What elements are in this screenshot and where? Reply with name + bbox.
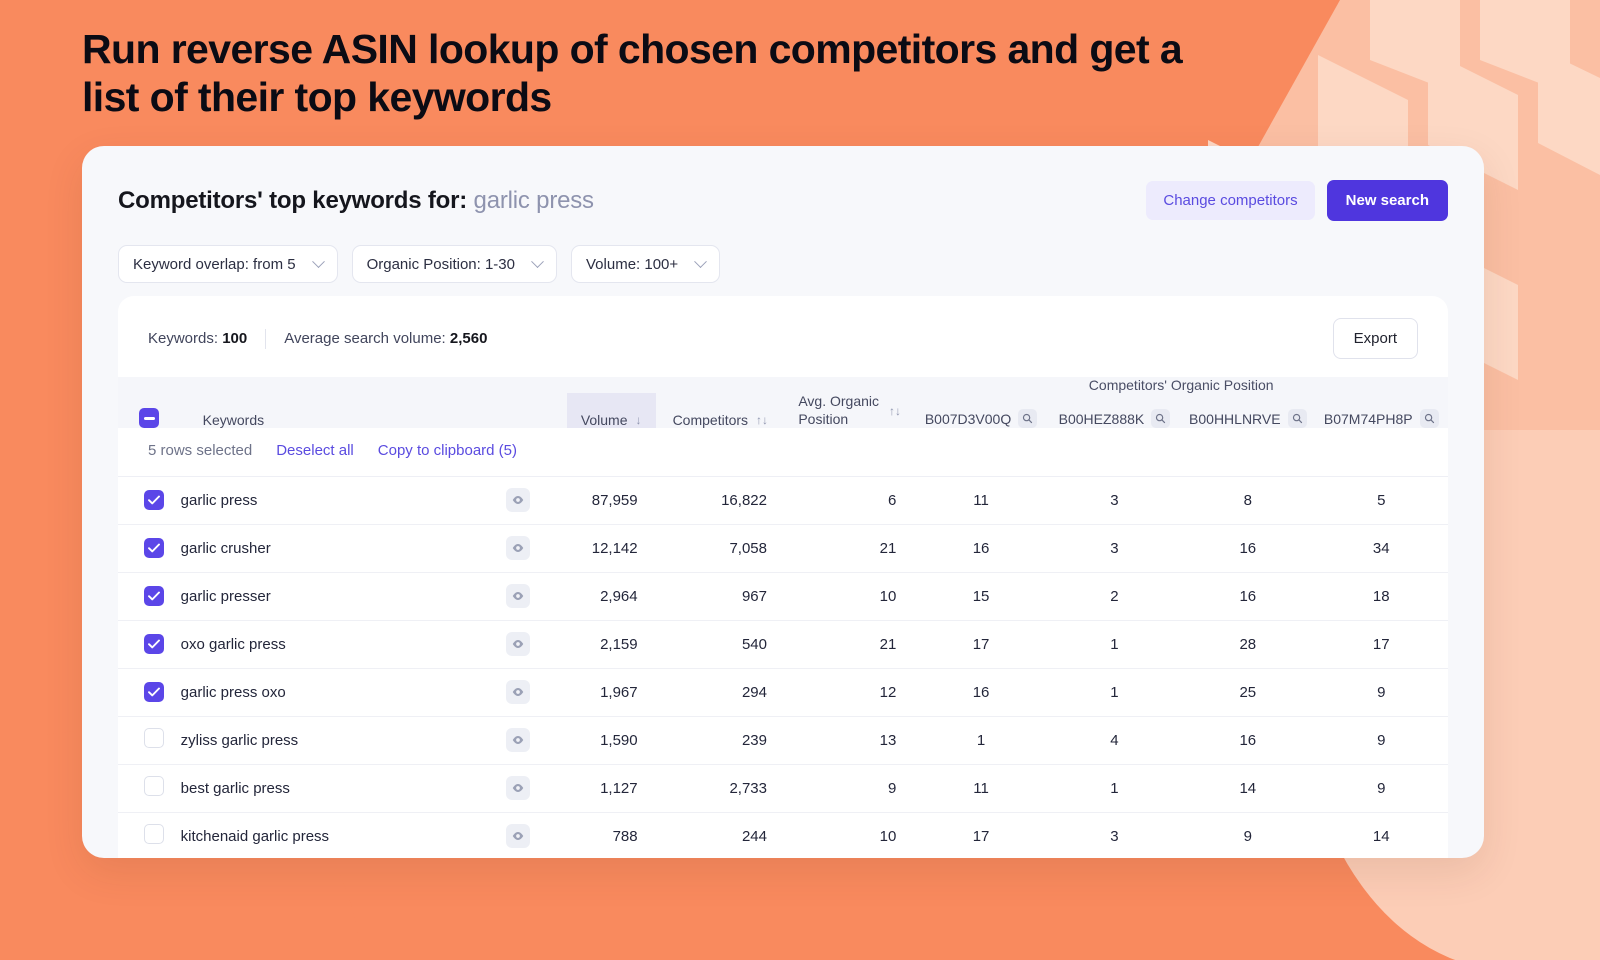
avg-organic-position-line1: Avg. Organic	[798, 393, 879, 409]
selection-bar-row: 5 rows selected Deselect all Copy to cli…	[118, 428, 1448, 476]
asin-position-cell-1: 4	[1048, 716, 1181, 764]
table-toolbar: Keywords: 100 Average search volume: 2,5…	[118, 296, 1448, 377]
competitors-column-label: Competitors	[673, 412, 748, 428]
search-icon[interactable]	[1288, 409, 1307, 428]
competitors-column-header[interactable]: Competitors ↑↓	[656, 393, 785, 428]
volume-cell: 1,590	[567, 716, 656, 764]
asin-position-cell-0: 17	[914, 620, 1047, 668]
table-row[interactable]: oxo garlic press2,159540211712817	[118, 620, 1448, 668]
asin-position-cell-2: 16	[1181, 716, 1314, 764]
eye-icon[interactable]	[506, 584, 530, 608]
competitors-cell: 294	[656, 668, 785, 716]
avg-position-cell: 21	[785, 524, 914, 572]
search-icon[interactable]	[1018, 409, 1037, 428]
keyword-cell: garlic crusher	[181, 524, 506, 572]
keyword-cell: garlic presser	[181, 572, 506, 620]
avg-position-cell: 10	[785, 572, 914, 620]
new-search-button[interactable]: New search	[1327, 180, 1448, 221]
asin-column-header-0[interactable]: B007D3V00Q	[914, 393, 1047, 428]
row-checkbox-4[interactable]	[144, 682, 164, 702]
row-select-cell	[118, 716, 181, 764]
change-competitors-button[interactable]: Change competitors	[1146, 181, 1314, 220]
eye-icon[interactable]	[506, 488, 530, 512]
competitors-cell: 239	[656, 716, 785, 764]
keywords-count-label: Keywords:	[148, 330, 218, 347]
competitors-cell: 967	[656, 572, 785, 620]
asin-position-cell-0: 11	[914, 764, 1047, 812]
volume-cell: 1,967	[567, 668, 656, 716]
eye-icon[interactable]	[506, 536, 530, 560]
table-row[interactable]: garlic press87,95916,822611385	[118, 476, 1448, 524]
row-checkbox-1[interactable]	[144, 538, 164, 558]
row-checkbox-7[interactable]	[144, 824, 164, 844]
chevron-down-icon	[312, 255, 325, 268]
row-select-cell	[118, 572, 181, 620]
volume-cell: 2,964	[567, 572, 656, 620]
asin-label-1: B00HEZ888K	[1059, 411, 1145, 427]
app-card: Competitors' top keywords for: garlic pr…	[82, 146, 1484, 858]
table-header-row: Keywords Volume ↓ Competitors ↑↓	[118, 393, 1448, 428]
asin-position-cell-3: 9	[1315, 716, 1448, 764]
competitors-cell: 540	[656, 620, 785, 668]
eye-icon[interactable]	[506, 680, 530, 704]
page-title: Run reverse ASIN lookup of chosen compet…	[82, 25, 1202, 122]
avg-position-cell: 12	[785, 668, 914, 716]
volume-cell: 788	[567, 812, 656, 858]
competitors-organic-position-group-label: Competitors' Organic Position	[914, 377, 1448, 393]
preview-cell	[506, 572, 567, 620]
row-checkbox-5[interactable]	[144, 728, 164, 748]
table-row[interactable]: best garlic press1,1272,7339111149	[118, 764, 1448, 812]
competitors-cell: 2,733	[656, 764, 785, 812]
asin-position-cell-2: 8	[1181, 476, 1314, 524]
filter-bar: Keyword overlap: from 5 Organic Position…	[82, 221, 1484, 283]
select-all-checkbox[interactable]	[139, 408, 159, 428]
asin-position-cell-2: 9	[1181, 812, 1314, 858]
copy-to-clipboard-link[interactable]: Copy to clipboard (5)	[378, 442, 517, 459]
row-select-cell	[118, 812, 181, 858]
row-select-cell	[118, 524, 181, 572]
asin-label-0: B007D3V00Q	[925, 411, 1011, 427]
table-stats: Keywords: 100 Average search volume: 2,5…	[148, 329, 487, 349]
asin-position-cell-3: 17	[1315, 620, 1448, 668]
asin-position-cell-1: 1	[1048, 668, 1181, 716]
asin-position-cell-2: 16	[1181, 572, 1314, 620]
keyword-cell: kitchenaid garlic press	[181, 812, 506, 858]
asin-position-cell-1: 3	[1048, 476, 1181, 524]
asin-position-cell-3: 9	[1315, 668, 1448, 716]
avg-organic-position-column-header[interactable]: Avg. Organic Position ↑↓	[785, 393, 914, 428]
eye-icon[interactable]	[506, 776, 530, 800]
card-header: Competitors' top keywords for: garlic pr…	[82, 146, 1484, 221]
volume-cell: 12,142	[567, 524, 656, 572]
asin-position-cell-2: 16	[1181, 524, 1314, 572]
volume-cell: 1,127	[567, 764, 656, 812]
keywords-column-label: Keywords	[203, 412, 264, 428]
volume-cell: 87,959	[567, 476, 656, 524]
preview-cell	[506, 620, 567, 668]
results-title-prefix: Competitors' top keywords for:	[118, 187, 467, 214]
keyword-cell: best garlic press	[181, 764, 506, 812]
asin-position-cell-1: 1	[1048, 620, 1181, 668]
row-select-cell	[118, 668, 181, 716]
table-row[interactable]: garlic presser2,964967101521618	[118, 572, 1448, 620]
keywords-count-value: 100	[222, 330, 247, 347]
chevron-down-icon	[531, 255, 544, 268]
avg-position-cell: 10	[785, 812, 914, 858]
asin-position-cell-2: 14	[1181, 764, 1314, 812]
preview-cell	[506, 764, 567, 812]
selected-rows-count: 5 rows selected	[148, 442, 252, 459]
row-select-cell	[118, 620, 181, 668]
filter-volume-label: Volume: 100+	[586, 256, 678, 273]
asin-position-cell-0: 16	[914, 524, 1047, 572]
volume-column-label: Volume	[581, 412, 628, 428]
asin-position-cell-1: 1	[1048, 764, 1181, 812]
preview-cell	[506, 812, 567, 858]
volume-cell: 2,159	[567, 620, 656, 668]
preview-cell	[506, 476, 567, 524]
results-title-keyword: garlic press	[474, 187, 594, 214]
volume-column-header[interactable]: Volume ↓	[567, 393, 656, 428]
row-select-cell	[118, 476, 181, 524]
asin-position-cell-3: 18	[1315, 572, 1448, 620]
table-row[interactable]: garlic crusher12,1427,058211631634	[118, 524, 1448, 572]
asin-position-cell-2: 28	[1181, 620, 1314, 668]
filter-keyword-overlap[interactable]: Keyword overlap: from 5	[118, 245, 338, 283]
asin-position-cell-3: 9	[1315, 764, 1448, 812]
table-body: 5 rows selected Deselect all Copy to cli…	[118, 428, 1448, 858]
competitors-cell: 7,058	[656, 524, 785, 572]
preview-cell	[506, 524, 567, 572]
chevron-down-icon	[694, 255, 707, 268]
avg-organic-position-line2: Position	[798, 411, 848, 427]
filter-keyword-overlap-label: Keyword overlap: from 5	[133, 256, 296, 273]
asin-label-3: B07M74PH8P	[1324, 411, 1413, 427]
asin-position-cell-0: 16	[914, 668, 1047, 716]
keyword-cell: zyliss garlic press	[181, 716, 506, 764]
asin-column-header-2[interactable]: B00HHLNRVE	[1181, 393, 1314, 428]
select-all-header	[118, 393, 181, 428]
row-checkbox-3[interactable]	[144, 634, 164, 654]
table-row[interactable]: zyliss garlic press1,5902391314169	[118, 716, 1448, 764]
eye-icon[interactable]	[506, 728, 530, 752]
keyword-cell: garlic press	[181, 476, 506, 524]
sort-desc-icon: ↓	[636, 413, 642, 427]
row-select-cell	[118, 764, 181, 812]
table-group-header-row: Competitors' Organic Position	[118, 377, 1448, 393]
asin-column-header-3[interactable]: B07M74PH8P	[1315, 393, 1448, 428]
export-button[interactable]: Export	[1333, 318, 1418, 359]
filter-organic-position[interactable]: Organic Position: 1-30	[352, 245, 557, 283]
stats-divider	[265, 329, 266, 349]
search-icon[interactable]	[1420, 409, 1439, 428]
avg-position-cell: 6	[785, 476, 914, 524]
row-checkbox-6[interactable]	[144, 776, 164, 796]
asin-position-cell-0: 15	[914, 572, 1047, 620]
search-icon[interactable]	[1151, 409, 1170, 428]
avg-organic-position-label: Avg. Organic Position	[798, 393, 879, 428]
asin-position-cell-0: 1	[914, 716, 1047, 764]
sort-both-icon: ↑↓	[756, 413, 768, 427]
asin-column-header-1[interactable]: B00HEZ888K	[1048, 393, 1181, 428]
row-checkbox-2[interactable]	[144, 586, 164, 606]
asin-position-cell-0: 11	[914, 476, 1047, 524]
table-row[interactable]: kitchenaid garlic press78824410173914	[118, 812, 1448, 858]
keyword-cell: oxo garlic press	[181, 620, 506, 668]
results-title: Competitors' top keywords for: garlic pr…	[118, 187, 594, 215]
asin-position-cell-2: 25	[1181, 668, 1314, 716]
asin-label-2: B00HHLNRVE	[1189, 411, 1281, 427]
eye-icon[interactable]	[506, 824, 530, 848]
avg-volume-value: 2,560	[450, 330, 488, 347]
keyword-cell: garlic press oxo	[181, 668, 506, 716]
preview-cell	[506, 668, 567, 716]
deselect-all-link[interactable]: Deselect all	[276, 442, 354, 459]
asin-position-cell-3: 34	[1315, 524, 1448, 572]
avg-position-cell: 21	[785, 620, 914, 668]
sort-both-icon: ↑↓	[889, 404, 901, 418]
asin-position-cell-1: 3	[1048, 524, 1181, 572]
header-actions: Change competitors New search	[1146, 180, 1448, 221]
keywords-table: Competitors' Organic Position Keywords	[118, 377, 1448, 858]
avg-position-cell: 13	[785, 716, 914, 764]
asin-position-cell-1: 3	[1048, 812, 1181, 858]
eye-icon[interactable]	[506, 632, 530, 656]
table-row[interactable]: garlic press oxo1,96729412161259	[118, 668, 1448, 716]
asin-position-cell-1: 2	[1048, 572, 1181, 620]
avg-volume-label: Average search volume:	[284, 330, 445, 347]
filter-organic-position-label: Organic Position: 1-30	[367, 256, 515, 273]
row-checkbox-0[interactable]	[144, 490, 164, 510]
table-head: Competitors' Organic Position Keywords	[118, 377, 1448, 428]
competitors-cell: 16,822	[656, 476, 785, 524]
filter-volume[interactable]: Volume: 100+	[571, 245, 720, 283]
asin-position-cell-3: 14	[1315, 812, 1448, 858]
keywords-column-header[interactable]: Keywords	[181, 393, 567, 428]
asin-position-cell-0: 17	[914, 812, 1047, 858]
avg-position-cell: 9	[785, 764, 914, 812]
asin-position-cell-3: 5	[1315, 476, 1448, 524]
competitors-cell: 244	[656, 812, 785, 858]
preview-cell	[506, 716, 567, 764]
results-table-card: Keywords: 100 Average search volume: 2,5…	[118, 296, 1448, 858]
